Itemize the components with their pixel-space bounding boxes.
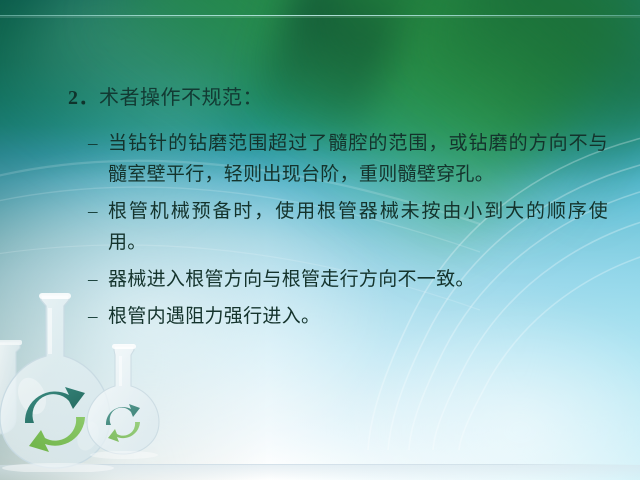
bullet-item-2: – 根管机械预备时，使用根管器械未按由小到大的顺序使用。 xyxy=(88,196,608,258)
bullet-item-3: – 器械进入根管方向与根管走行方向不一致。 xyxy=(88,264,608,295)
bullet-dash-icon: – xyxy=(88,264,108,295)
slide-text-content: 2．术者操作不规范： – 当钻针的钻磨范围超过了髓腔的范围，或钻磨的方向不与髓室… xyxy=(0,0,640,480)
bullet-text-4: 根管内遇阻力强行进入。 xyxy=(108,301,608,332)
bullet-list: – 当钻针的钻磨范围超过了髓腔的范围，或钻磨的方向不与髓室壁平行，轻则出现台阶，… xyxy=(88,128,608,338)
bullet-dash-icon: – xyxy=(88,128,108,159)
bullet-text-2: 根管机械预备时，使用根管器械未按由小到大的顺序使用。 xyxy=(108,196,608,258)
slide-canvas: 2．术者操作不规范： – 当钻针的钻磨范围超过了髓腔的范围，或钻磨的方向不与髓室… xyxy=(0,0,640,480)
bullet-dash-icon: – xyxy=(88,196,108,227)
slide-heading: 2．术者操作不规范： xyxy=(68,84,263,112)
bullet-item-4: – 根管内遇阻力强行进入。 xyxy=(88,301,608,332)
bullet-item-1: – 当钻针的钻磨范围超过了髓腔的范围，或钻磨的方向不与髓室壁平行，轻则出现台阶，… xyxy=(88,128,608,190)
bullet-text-1: 当钻针的钻磨范围超过了髓腔的范围，或钻磨的方向不与髓室壁平行，轻则出现台阶，重则… xyxy=(108,128,608,190)
bullet-text-3: 器械进入根管方向与根管走行方向不一致。 xyxy=(108,264,608,295)
heading-number: 2． xyxy=(68,87,99,109)
heading-text: 术者操作不规范： xyxy=(99,87,263,109)
bullet-dash-icon: – xyxy=(88,301,108,332)
